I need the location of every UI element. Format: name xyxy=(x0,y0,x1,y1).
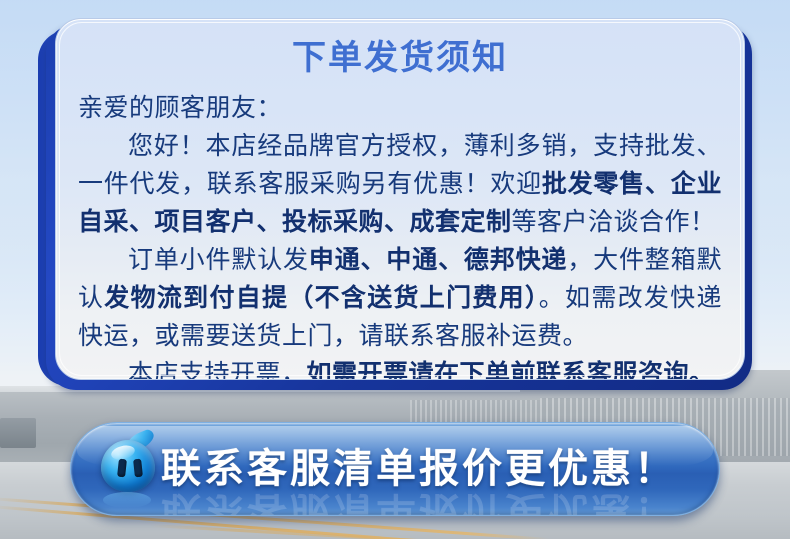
notice-salutation: 亲爱的顾客朋友： xyxy=(78,89,722,127)
run-text-bold: 如需开票请在下单前联系客服咨询。 xyxy=(307,360,715,380)
aliwangwang-icon-body xyxy=(101,440,155,492)
notice-card: 下单发货须知 亲爱的顾客朋友： 您好！本店经品牌官方授权，薄利多销，支持批发、一… xyxy=(55,18,745,380)
run-text: 订单小件默认发 xyxy=(128,246,309,274)
notice-body: 亲爱的顾客朋友： 您好！本店经品牌官方授权，薄利多销，支持批发、一件代发，联系客… xyxy=(78,89,722,380)
run-text-bold: 申通、中通、德邦快递 xyxy=(309,246,567,274)
run-text: 等客户洽谈合作！ xyxy=(512,208,716,236)
aliwangwang-icon-eye xyxy=(133,459,143,478)
notice-paragraph-invoice: 本店支持开票，如需开票请在下单前联系客服咨询。 xyxy=(78,355,722,380)
notice-paragraph-shipping: 订单小件默认发申通、中通、德邦快递，大件整箱默认发物流到付自提（不含送货上门费用… xyxy=(78,241,722,355)
aliwangwang-icon xyxy=(99,438,159,500)
run-text-bold: 发物流到付自提（不含送货上门费用） xyxy=(104,284,538,312)
notice-paragraph-authorization: 您好！本店经品牌官方授权，薄利多销，支持批发、一件代发，联系客服采购另有优惠！欢… xyxy=(78,127,722,241)
aliwangwang-icon-eye xyxy=(117,459,127,478)
cta-text-container: 联系客服清单报价更优惠！ 联系客服清单报价更优惠！ xyxy=(159,449,679,489)
promo-banner: 下单发货须知 亲爱的顾客朋友： 您好！本店经品牌官方授权，薄利多销，支持批发、一… xyxy=(0,0,790,539)
run-text: 本店支持开票， xyxy=(128,360,307,380)
cta-label-reflection: 联系客服清单报价更优惠！ xyxy=(159,491,679,516)
background-truck xyxy=(0,418,36,448)
page-title: 下单发货须知 xyxy=(56,41,744,75)
contact-service-button[interactable]: 联系客服清单报价更优惠！ 联系客服清单报价更优惠！ xyxy=(70,422,720,516)
cta-label: 联系客服清单报价更优惠！ xyxy=(159,449,679,489)
aliwangwang-icon-reflection xyxy=(103,492,151,508)
